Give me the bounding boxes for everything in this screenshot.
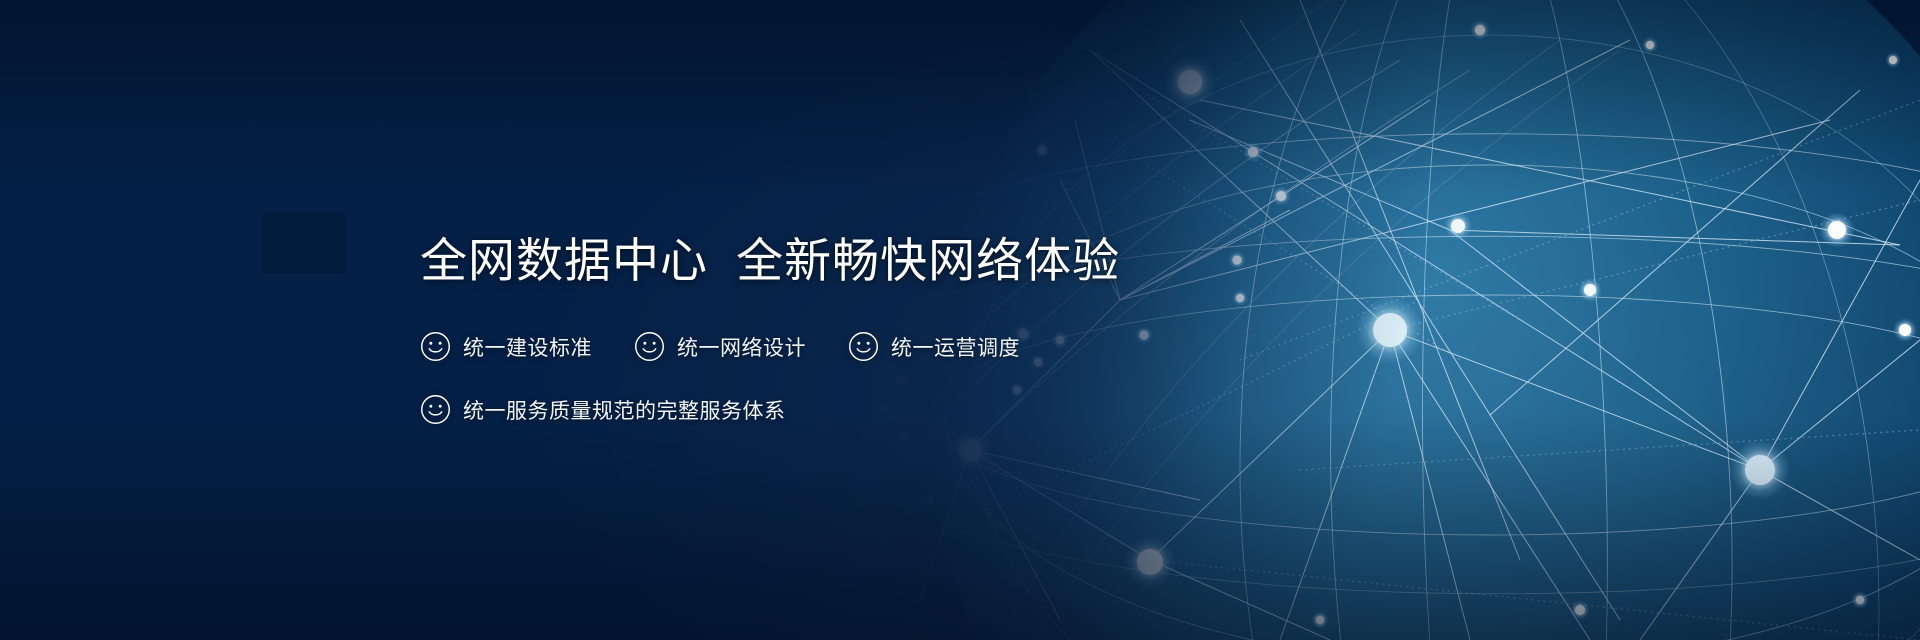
page-title: 全网数据中心 全新畅快网络体验 <box>420 232 1120 289</box>
feature-label: 统一网络设计 <box>677 332 806 362</box>
feature-item-operation-scheduling[interactable]: 统一运营调度 <box>848 331 1020 362</box>
smiley-face-icon <box>420 331 451 362</box>
feature-row-secondary: 统一服务质量规范的完整服务体系 <box>420 394 786 425</box>
smiley-face-icon <box>420 394 451 425</box>
feature-item-construction-standard[interactable]: 统一建设标准 <box>420 331 592 362</box>
banner-content: 全网数据中心 全新畅快网络体验 统一建设标准 统一网络设计 <box>0 0 1920 640</box>
feature-row-primary: 统一建设标准 统一网络设计 统一运营调度 <box>420 331 1020 362</box>
smiley-face-icon <box>848 331 879 362</box>
feature-label: 统一运营调度 <box>891 332 1020 362</box>
feature-item-network-design[interactable]: 统一网络设计 <box>634 331 806 362</box>
hero-banner: 全网数据中心 全新畅快网络体验 统一建设标准 统一网络设计 <box>0 0 1920 640</box>
feature-label: 统一建设标准 <box>463 332 592 362</box>
feature-item-service-quality-system[interactable]: 统一服务质量规范的完整服务体系 <box>420 394 786 425</box>
smiley-face-icon <box>634 331 665 362</box>
feature-label: 统一服务质量规范的完整服务体系 <box>463 395 786 425</box>
